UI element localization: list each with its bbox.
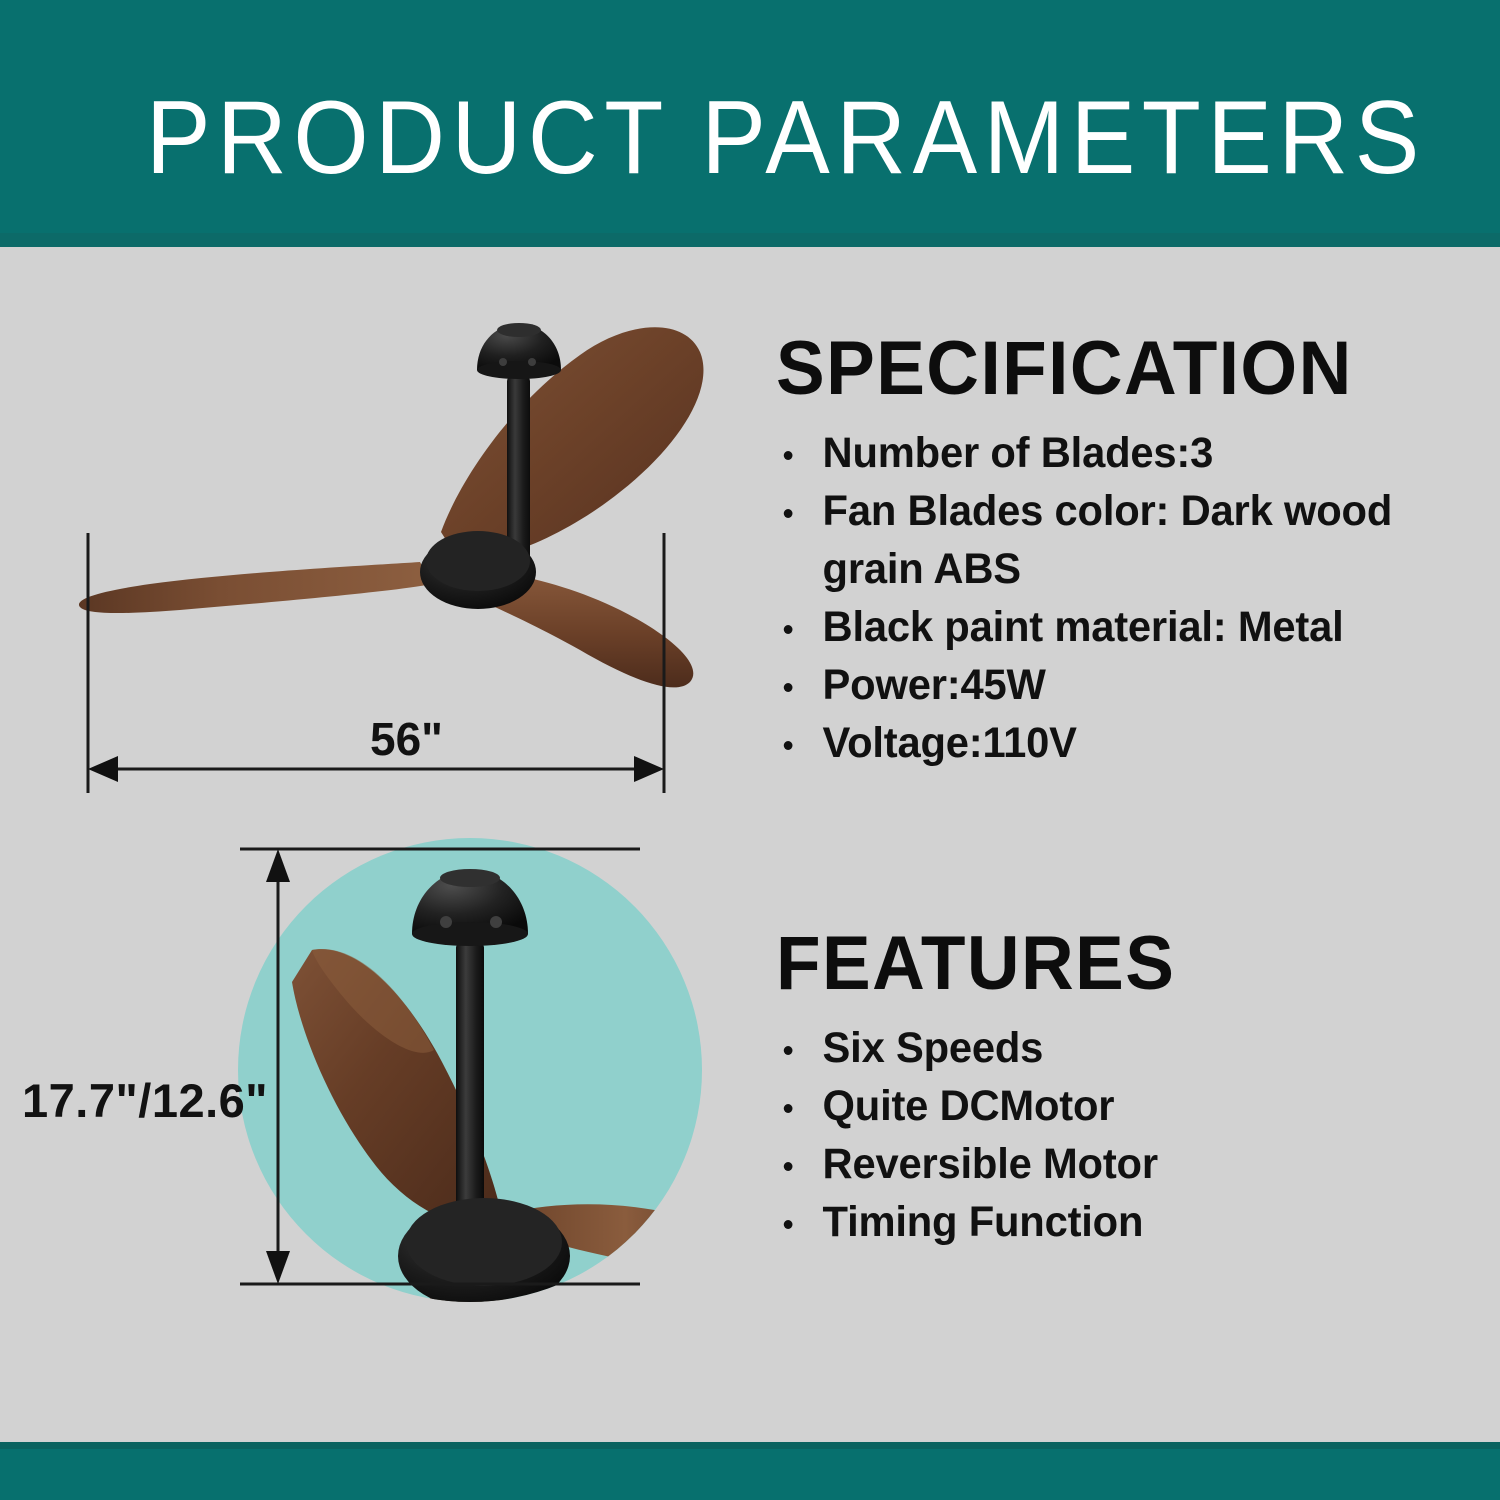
list-item: Power:45W <box>776 656 1455 714</box>
downrod <box>507 376 530 566</box>
fan-blade-left <box>79 562 432 613</box>
closeup-canopy-screw-right <box>490 916 502 928</box>
list-item: Quite DCMotor <box>776 1077 1455 1135</box>
list-item: Voltage:110V <box>776 714 1455 772</box>
motor-housing-top <box>426 531 530 591</box>
features-list: Six Speeds Quite DCMotor Reversible Moto… <box>776 1019 1476 1251</box>
specification-list: Number of Blades:3 Fan Blades color: Dar… <box>776 424 1476 772</box>
canopy-top <box>497 323 541 337</box>
header-band-shade <box>0 233 1500 247</box>
list-item: Reversible Motor <box>776 1135 1455 1193</box>
features-block: FEATURES Six Speeds Quite DCMotor Revers… <box>776 925 1476 1251</box>
product-image-side-view <box>60 300 760 720</box>
footer-band <box>0 1442 1500 1500</box>
list-item: Timing Function <box>776 1193 1455 1251</box>
dimension-width-label: 56" <box>370 716 443 762</box>
list-item: Six Speeds <box>776 1019 1455 1077</box>
closeup-downrod <box>456 942 484 1242</box>
canopy-screw-right <box>528 358 536 366</box>
list-item: Black paint material: Metal <box>776 598 1455 656</box>
dimension-height-label: 17.7"/12.6" <box>22 1077 268 1124</box>
list-item: Number of Blades:3 <box>776 424 1455 482</box>
canopy-screw-left <box>499 358 507 366</box>
product-image-closeup-circle <box>238 838 702 1302</box>
closeup-motor-housing-top <box>406 1198 562 1286</box>
infographic-page: PRODUCT PARAMETERS <box>0 0 1500 1500</box>
footer-band-shade <box>0 1442 1500 1449</box>
list-item: Fan Blades color: Dark wood grain ABS <box>776 482 1455 598</box>
page-title: PRODUCT PARAMETERS <box>146 86 1426 190</box>
features-heading: FEATURES <box>776 925 1448 1003</box>
canopy-base <box>477 361 561 379</box>
closeup-canopy-screw-left <box>440 916 452 928</box>
specification-block: SPECIFICATION Number of Blades:3 Fan Bla… <box>776 330 1476 772</box>
closeup-canopy-base <box>412 922 528 946</box>
closeup-canopy-top <box>440 869 500 887</box>
specification-heading: SPECIFICATION <box>776 330 1448 408</box>
